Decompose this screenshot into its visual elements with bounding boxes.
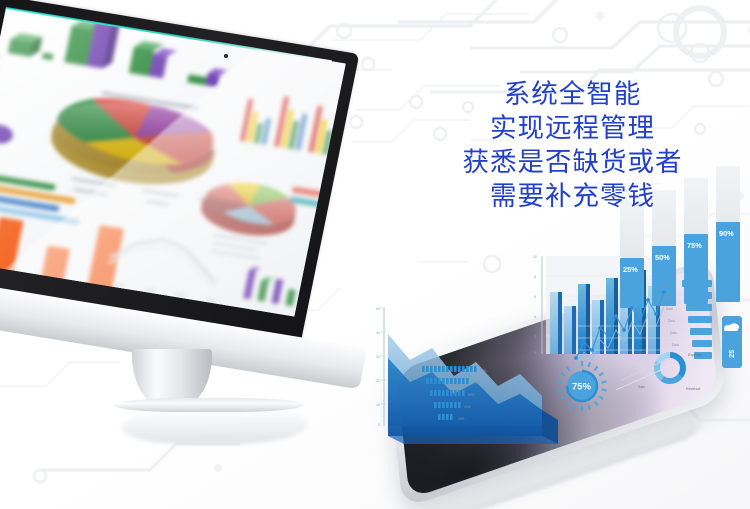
chart-layered-area: 5040 3020 100 xyxy=(376,307,558,444)
tagline-line-1: 系统全智能 xyxy=(400,78,745,112)
seg-row-2 xyxy=(426,378,469,384)
donut-label-revenue: Revenue xyxy=(686,387,700,391)
svg-text:55%: 55% xyxy=(468,393,475,397)
webcam-icon xyxy=(224,54,228,58)
svg-text:Data: Data xyxy=(668,319,675,323)
svg-text:90%: 90% xyxy=(480,369,487,373)
pct-label-90: 90% xyxy=(719,229,734,238)
svg-text:0: 0 xyxy=(534,351,536,355)
svg-text:Data: Data xyxy=(670,331,677,335)
svg-text:30: 30 xyxy=(376,355,380,359)
tagline-line-2: 实现远程管理 xyxy=(400,112,745,146)
svg-text:25: 25 xyxy=(727,350,736,358)
donut-label-expense: Expense xyxy=(688,353,702,357)
svg-text:Data: Data xyxy=(664,295,671,299)
tagline-block: 系统全智能 实现远程管理 获悉是否缺货或者 需要补充零钱 xyxy=(400,78,745,214)
monitor-stand-reflection xyxy=(117,408,312,444)
chart-gauge-75: 75% xyxy=(557,361,606,411)
donut-label-sale: Sale xyxy=(638,385,645,389)
donut-label-profit: Profit xyxy=(638,351,646,355)
svg-text:Data: Data xyxy=(666,307,673,311)
cloud-indicator-bar: 25 xyxy=(722,316,742,368)
svg-text:40%: 40% xyxy=(464,405,471,409)
svg-text:50: 50 xyxy=(376,307,380,311)
pct-label-75: 75% xyxy=(687,241,702,250)
pct-label-25: 25% xyxy=(623,265,638,274)
svg-text:10: 10 xyxy=(376,403,380,407)
svg-text:25%: 25% xyxy=(458,417,465,421)
svg-text:4: 4 xyxy=(534,315,536,319)
svg-text:6: 6 xyxy=(534,295,536,299)
svg-text:40: 40 xyxy=(376,331,380,335)
tagline-line-3: 获悉是否缺货或者 xyxy=(400,146,745,180)
desktop-monitor xyxy=(0,0,392,334)
tagline-line-4: 需要补充零钱 xyxy=(400,180,745,214)
svg-text:8: 8 xyxy=(534,275,536,279)
seg-row-3 xyxy=(430,390,465,396)
gauge-center-label: 75% xyxy=(572,381,592,392)
svg-text:70%: 70% xyxy=(472,381,479,385)
pct-label-50: 50% xyxy=(655,253,670,262)
svg-text:Data: Data xyxy=(672,343,679,347)
holographic-dashboard: 5040 3020 100 xyxy=(370,230,750,470)
svg-text:0: 0 xyxy=(378,423,380,427)
chart-donut: Profit Expense Sale Revenue xyxy=(638,350,702,391)
svg-text:Data: Data xyxy=(662,283,669,287)
svg-text:20: 20 xyxy=(376,379,380,383)
svg-text:10: 10 xyxy=(533,255,537,259)
promotional-banner: 5040 3020 100 xyxy=(0,0,750,509)
svg-text:2: 2 xyxy=(534,335,536,339)
